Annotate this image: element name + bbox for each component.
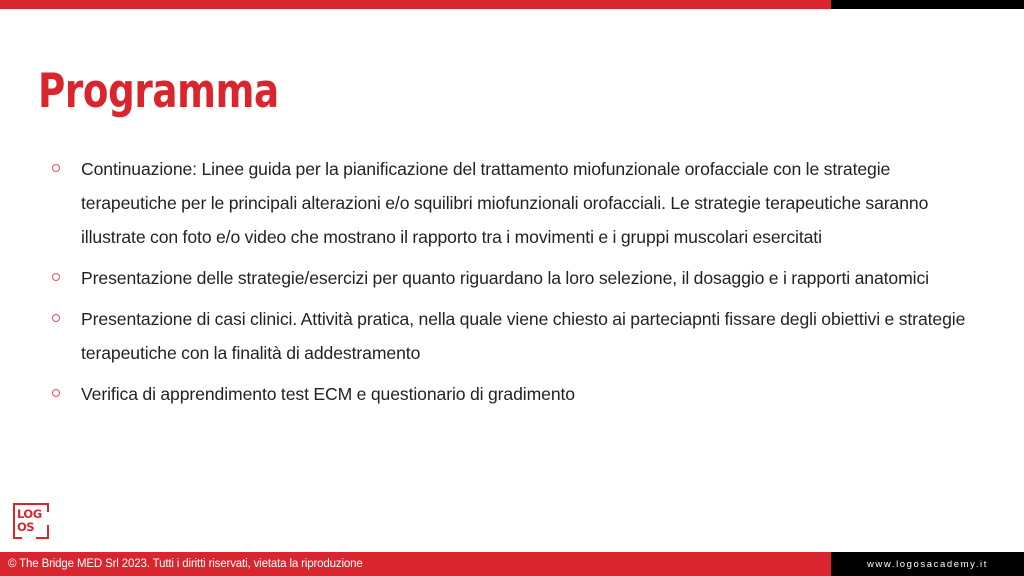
footer-website-url: www.logosacademy.it (867, 559, 988, 570)
slide-canvas: Programma Continuazione: Linee guida per… (0, 0, 1024, 576)
logos-academy-logo: LOG OS (13, 503, 49, 539)
list-item: Presentazione di casi clinici. Attività … (48, 302, 978, 370)
circle-outline-bullet-icon (52, 389, 60, 397)
programma-bullet-list: Continuazione: Linee guida per la pianif… (48, 152, 978, 411)
footer-copyright-text: © The Bridge MED Srl 2023. Tutti i dirit… (0, 558, 363, 570)
footer-black-segment: www.logosacademy.it (831, 552, 1024, 576)
list-item-text: Presentazione di casi clinici. Attività … (81, 302, 978, 370)
top-accent-bar-red-segment (0, 0, 831, 9)
page-title: Programma (38, 67, 279, 116)
footer-bar: © The Bridge MED Srl 2023. Tutti i dirit… (0, 552, 1024, 576)
list-item: Continuazione: Linee guida per la pianif… (48, 152, 978, 254)
list-item: Verifica di apprendimento test ECM e que… (48, 377, 978, 411)
circle-outline-bullet-icon (52, 164, 60, 172)
list-item-text: Presentazione delle strategie/esercizi p… (81, 261, 978, 295)
top-accent-bar-black-segment (831, 0, 1024, 9)
logo-notch-right (43, 512, 50, 525)
circle-outline-bullet-icon (52, 273, 60, 281)
top-accent-bar (0, 0, 1024, 9)
logo-wordmark: LOG OS (17, 508, 42, 533)
logo-wordmark-line2: OS (17, 521, 42, 534)
list-item-text: Continuazione: Linee guida per la pianif… (81, 152, 978, 254)
list-item-text: Verifica di apprendimento test ECM e que… (81, 377, 978, 411)
logo-notch-bottom (22, 533, 36, 540)
footer-red-segment: © The Bridge MED Srl 2023. Tutti i dirit… (0, 552, 831, 576)
list-item: Presentazione delle strategie/esercizi p… (48, 261, 978, 295)
logo-wordmark-line1: LOG (17, 508, 42, 521)
circle-outline-bullet-icon (52, 314, 60, 322)
